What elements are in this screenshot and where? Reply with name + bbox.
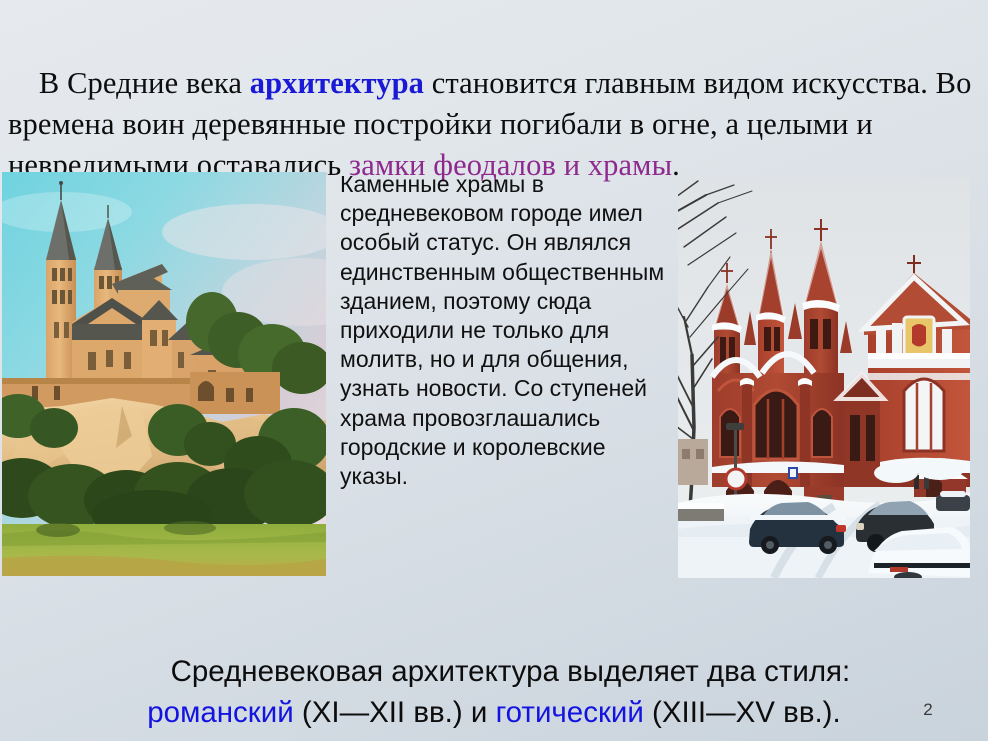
footer-keyword-gothic: готический — [496, 696, 644, 729]
heading-keyword-architecture: архитектура — [250, 66, 424, 100]
romanesque-castle-photo — [2, 172, 326, 576]
heading-segment-plain-1: В Средние века — [39, 66, 250, 100]
footer-conclusion: Средневековая архитектура выделяет два с… — [8, 610, 980, 741]
footer-segment-plain-3: (XIII—XV вв.). — [644, 696, 841, 729]
footer-segment-plain-2: (XI—XII вв.) и — [294, 696, 496, 729]
romanesque-castle-illustration — [2, 172, 326, 576]
gothic-church-illustration — [678, 177, 970, 578]
page-number: 2 — [916, 700, 940, 720]
body-paragraph: Каменные храмы в средневековом городе им… — [340, 170, 666, 491]
slide-canvas: В Средние века архитектура становится гл… — [0, 0, 988, 741]
gothic-church-photo — [678, 177, 970, 578]
footer-keyword-romanesque: романский — [147, 696, 293, 729]
footer-segment-plain-1: Средневековая архитектура выделяет два с… — [171, 655, 851, 688]
